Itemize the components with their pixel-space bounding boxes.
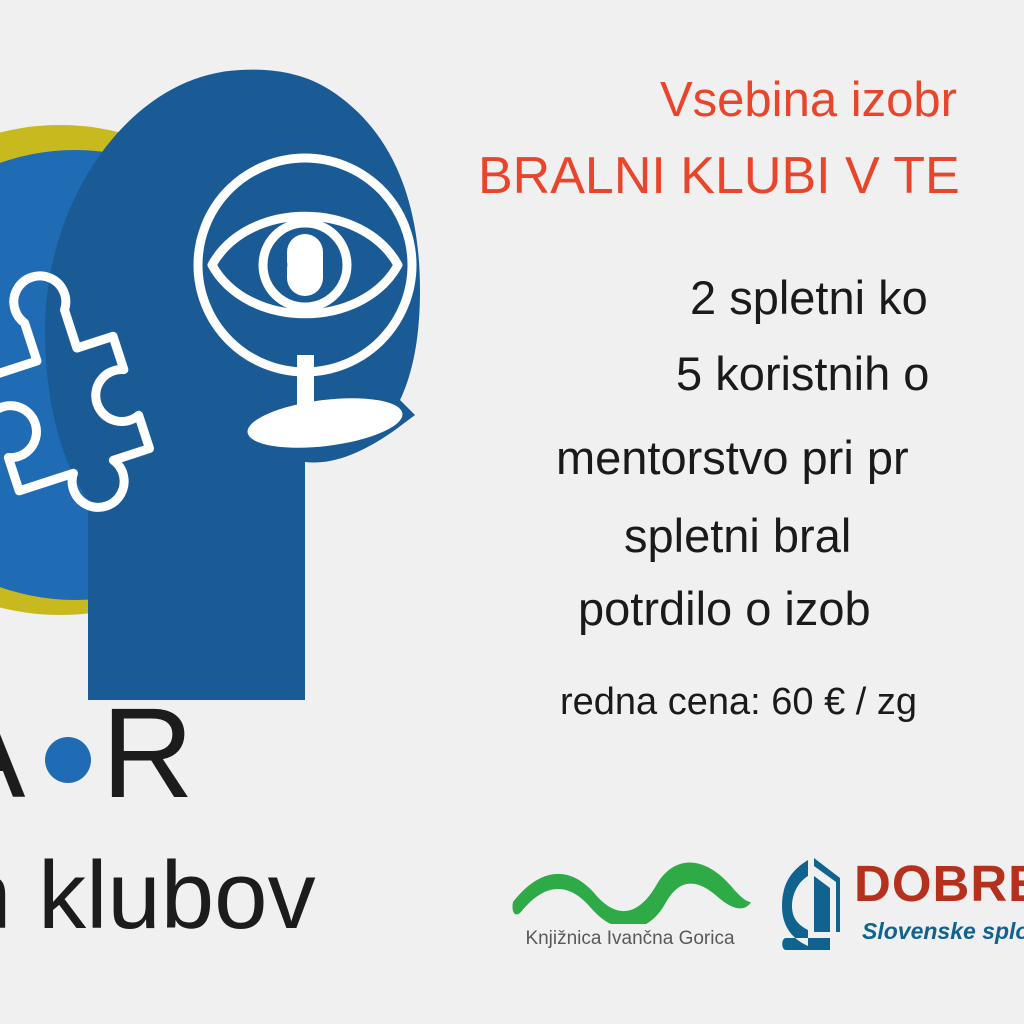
white-eye-pupil — [287, 234, 323, 296]
body-line-3: mentorstvo pri pr — [556, 434, 909, 481]
wordmark-letter-r: R — [101, 690, 203, 825]
library-logo-caption: Knjižnica Ivančna Gorica — [505, 928, 755, 950]
body-line-4: spletni bral — [624, 512, 851, 559]
wordmark-line-2: h klubov — [0, 848, 316, 944]
body-line-5: potrdilo o izob — [578, 585, 871, 632]
text-column: Vsebina izobr BRALNI KLUBI V TE 2 spletn… — [460, 0, 1024, 800]
body-line-1: 2 spletni ko — [690, 274, 928, 321]
heading-line-1: Vsebina izobr — [660, 76, 957, 125]
blue-book-icon — [782, 858, 840, 950]
wordmark-line-1: AR — [0, 690, 204, 818]
heading-line-2: BRALNI KLUBI V TE — [478, 150, 960, 202]
green-wave-icon — [512, 862, 751, 924]
body-line-2: 5 koristnih o — [676, 350, 929, 397]
wordmark-logo: AR h klubov — [0, 690, 470, 960]
dobre-logo-subtitle: Slovenske splošne — [862, 920, 1024, 943]
dobre-logo-title: DOBRE — [854, 858, 1024, 909]
promo-graphic-canvas: AR h klubov Vsebina izobr BRALNI KLUBI V… — [0, 0, 1024, 1024]
white-eye-stem — [297, 355, 314, 405]
price-line: redna cena: 60 € / zg — [560, 683, 917, 721]
head-illustration — [0, 0, 470, 700]
dobre-knjige-logo: DOBRE Slovenske splošne — [770, 850, 1024, 960]
library-logo: Knjižnica Ivančna Gorica — [505, 852, 755, 962]
wordmark-letter-a: A — [0, 690, 35, 825]
blue-dot-icon — [45, 737, 91, 783]
